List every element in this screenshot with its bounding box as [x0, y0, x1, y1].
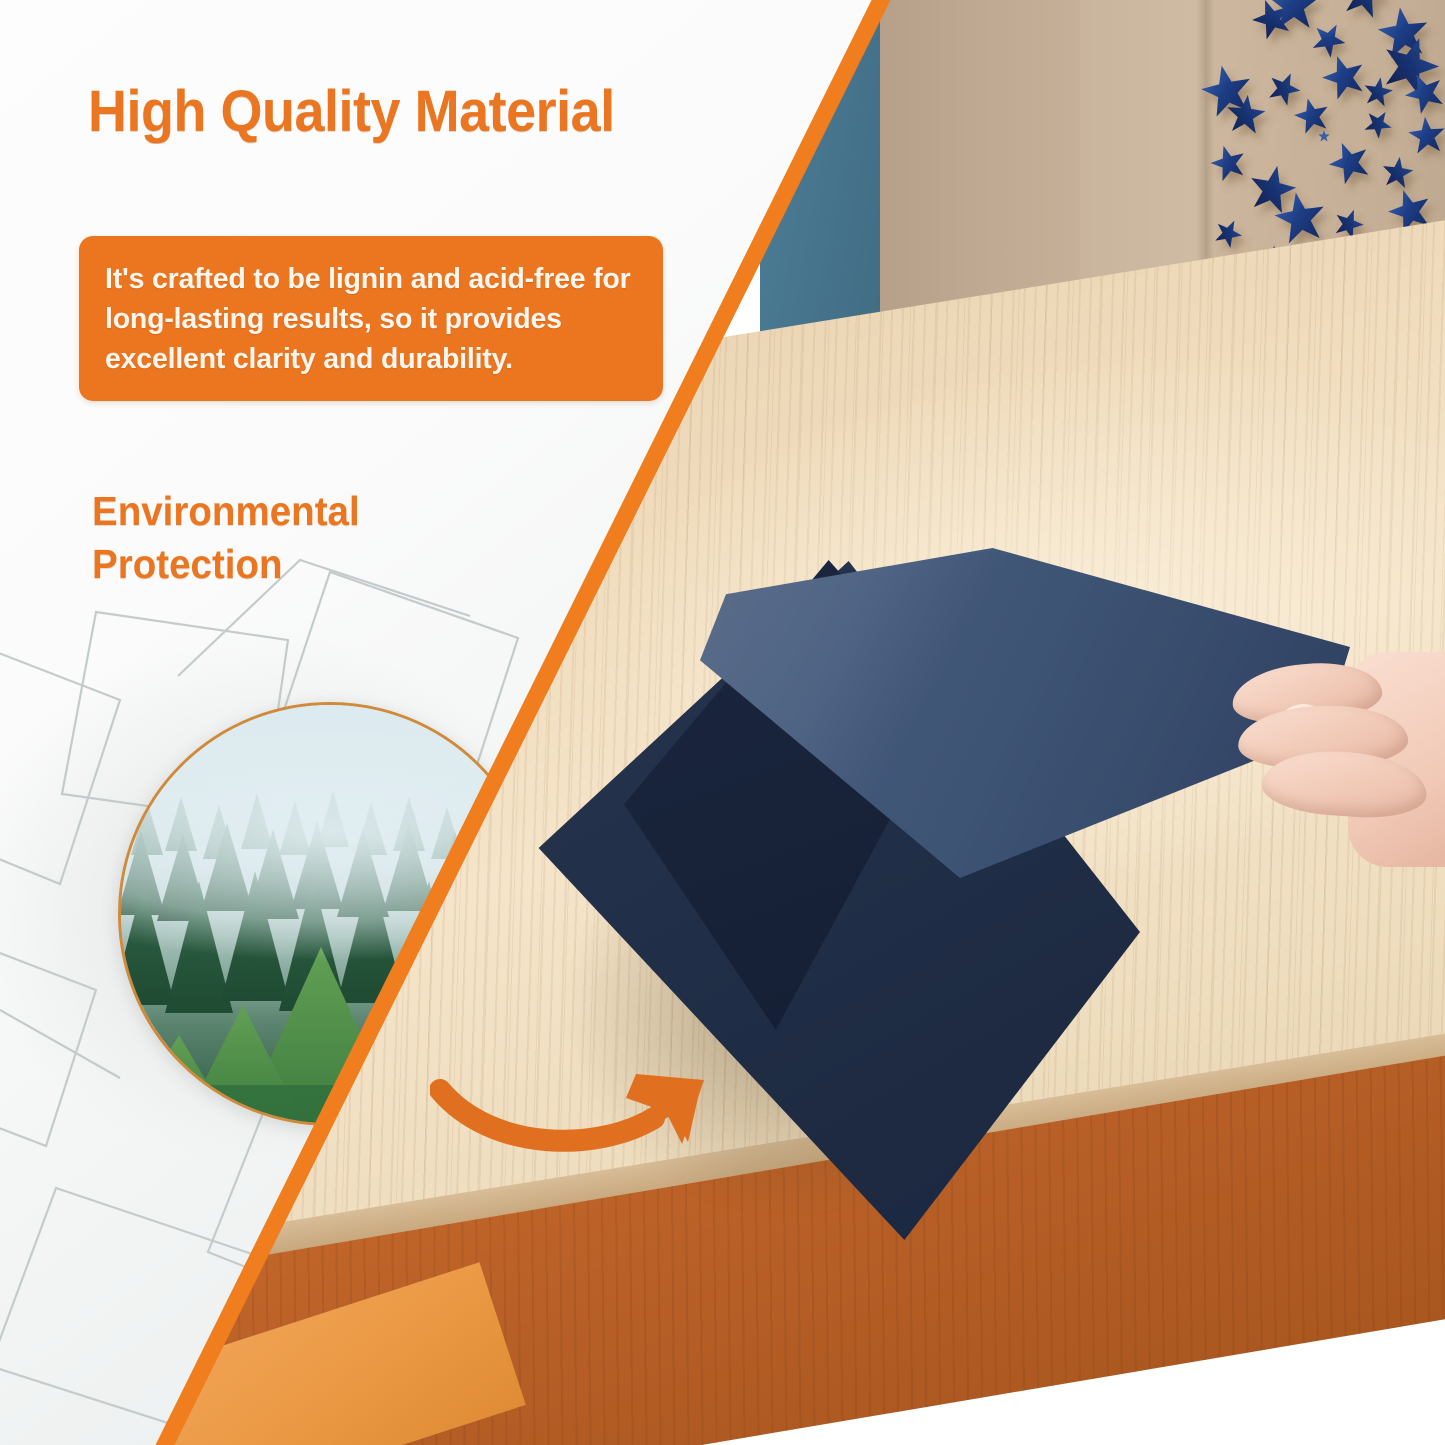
section-subheading: Environmental Protection [92, 485, 360, 591]
product-feature-banner: High Quality Material It's crafted to be… [0, 0, 1445, 1445]
hand-lifting-paper [1228, 628, 1445, 878]
callout-text: It's crafted to be lignin and acid-free … [105, 259, 637, 379]
subheading-line-1: Environmental [92, 485, 360, 538]
small-star-icon [1318, 130, 1330, 141]
curved-arrow-icon [430, 1040, 750, 1200]
feature-callout-box: It's crafted to be lignin and acid-free … [79, 236, 663, 401]
page-title: High Quality Material [88, 78, 615, 145]
subheading-line-2: Protection [92, 538, 360, 591]
